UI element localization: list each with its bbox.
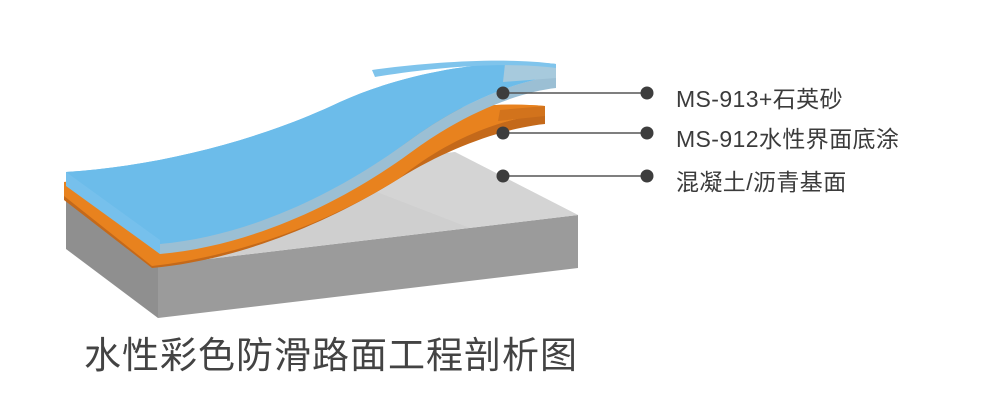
marker-dot-base[interactable] xyxy=(497,170,510,183)
callout-group xyxy=(497,87,654,183)
legend-label-surface: MS-913+石英砂 xyxy=(676,80,843,114)
legend-dot-primer[interactable] xyxy=(641,127,654,140)
legend-dot-surface[interactable] xyxy=(641,87,654,100)
marker-dot-primer[interactable] xyxy=(497,127,510,140)
legend-label-base: 混凝土/沥青基面 xyxy=(676,163,847,197)
marker-dot-surface[interactable] xyxy=(497,87,510,100)
legend-label-primer: MS-912水性界面底涂 xyxy=(676,120,899,154)
page-title: 水性彩色防滑路面工程剖析图 xyxy=(84,325,578,379)
diagram-canvas: MS-913+石英砂 MS-912水性界面底涂 混凝土/沥青基面 水性彩色防滑路… xyxy=(0,0,995,419)
legend-dot-base[interactable] xyxy=(641,170,654,183)
